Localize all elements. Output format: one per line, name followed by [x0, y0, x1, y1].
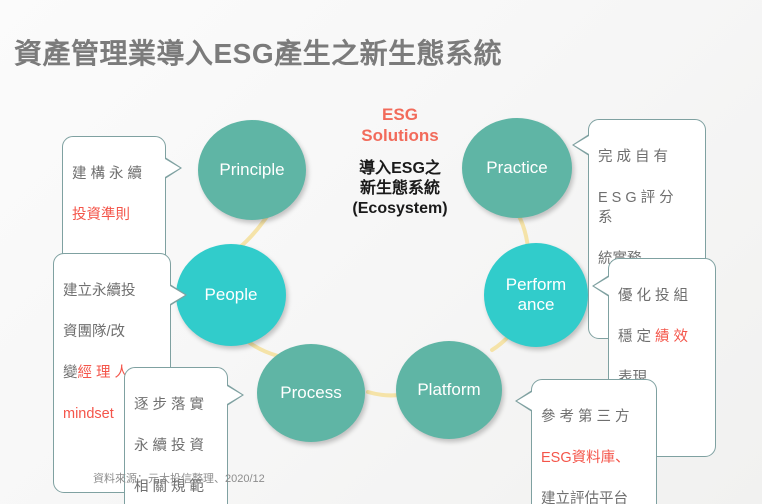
callout-line: 逐步落實 [134, 395, 218, 416]
callout-line: 完成自有 [598, 147, 696, 168]
callout-tail-fill-icon [170, 286, 185, 304]
node-process[interactable]: Process [257, 344, 365, 442]
callout-tail-fill-icon [165, 159, 180, 177]
callout-tail-fill-icon [574, 136, 589, 154]
callout-line: 參考第三方 [541, 407, 647, 428]
node-people-label: People [205, 285, 258, 305]
callout-line-gray: 穩定 [618, 329, 655, 345]
callout-line-red: 績效 [655, 329, 692, 345]
node-performance[interactable]: Perform ance [484, 243, 588, 347]
callout-line: 建立評估平台 [541, 489, 647, 504]
source-note: 資料來源：元大投信整理、2020/12 [93, 470, 265, 486]
callout-line: 優化投組 [618, 286, 706, 307]
node-process-label: Process [280, 383, 341, 403]
node-performance-label: Perform ance [506, 275, 566, 314]
callout-line-gray: 變 [63, 365, 78, 381]
callout-tail-fill-icon [594, 277, 609, 295]
node-practice[interactable]: Practice [462, 118, 572, 218]
node-platform-label: Platform [417, 380, 480, 400]
node-principle[interactable]: Principle [198, 120, 306, 220]
callout-line-mixed: 穩定績效 [618, 327, 706, 348]
callout-line: ESG評分系 [598, 188, 696, 229]
node-platform[interactable]: Platform [396, 341, 502, 439]
callout-line: 永續投資 [134, 436, 218, 457]
callout-tail-fill-icon [517, 392, 532, 410]
node-people[interactable]: People [176, 244, 286, 346]
callout-line: ESG資料庫、 [541, 448, 647, 469]
center-subtitle: 導入ESG之 新生態系統 (Ecosystem) [330, 159, 470, 219]
center-heading: ESG Solutions [330, 104, 470, 147]
page-title: 資產管理業導入ESG產生之新生態系統 [14, 32, 502, 72]
center-label-block: ESG Solutions 導入ESG之 新生態系統 (Ecosystem) [330, 104, 470, 219]
node-principle-label: Principle [219, 160, 284, 180]
callout-line: 建立永續投 [63, 281, 161, 302]
callout-tail-fill-icon [227, 386, 242, 404]
callout-platform-note[interactable]: 參考第三方 ESG資料庫、 建立評估平台 [531, 379, 657, 504]
node-practice-label: Practice [486, 158, 547, 178]
callout-line: 投資準則 [72, 205, 156, 226]
callout-line: 建構永續 [72, 164, 156, 185]
callout-line: 資團隊/改 [63, 322, 161, 343]
